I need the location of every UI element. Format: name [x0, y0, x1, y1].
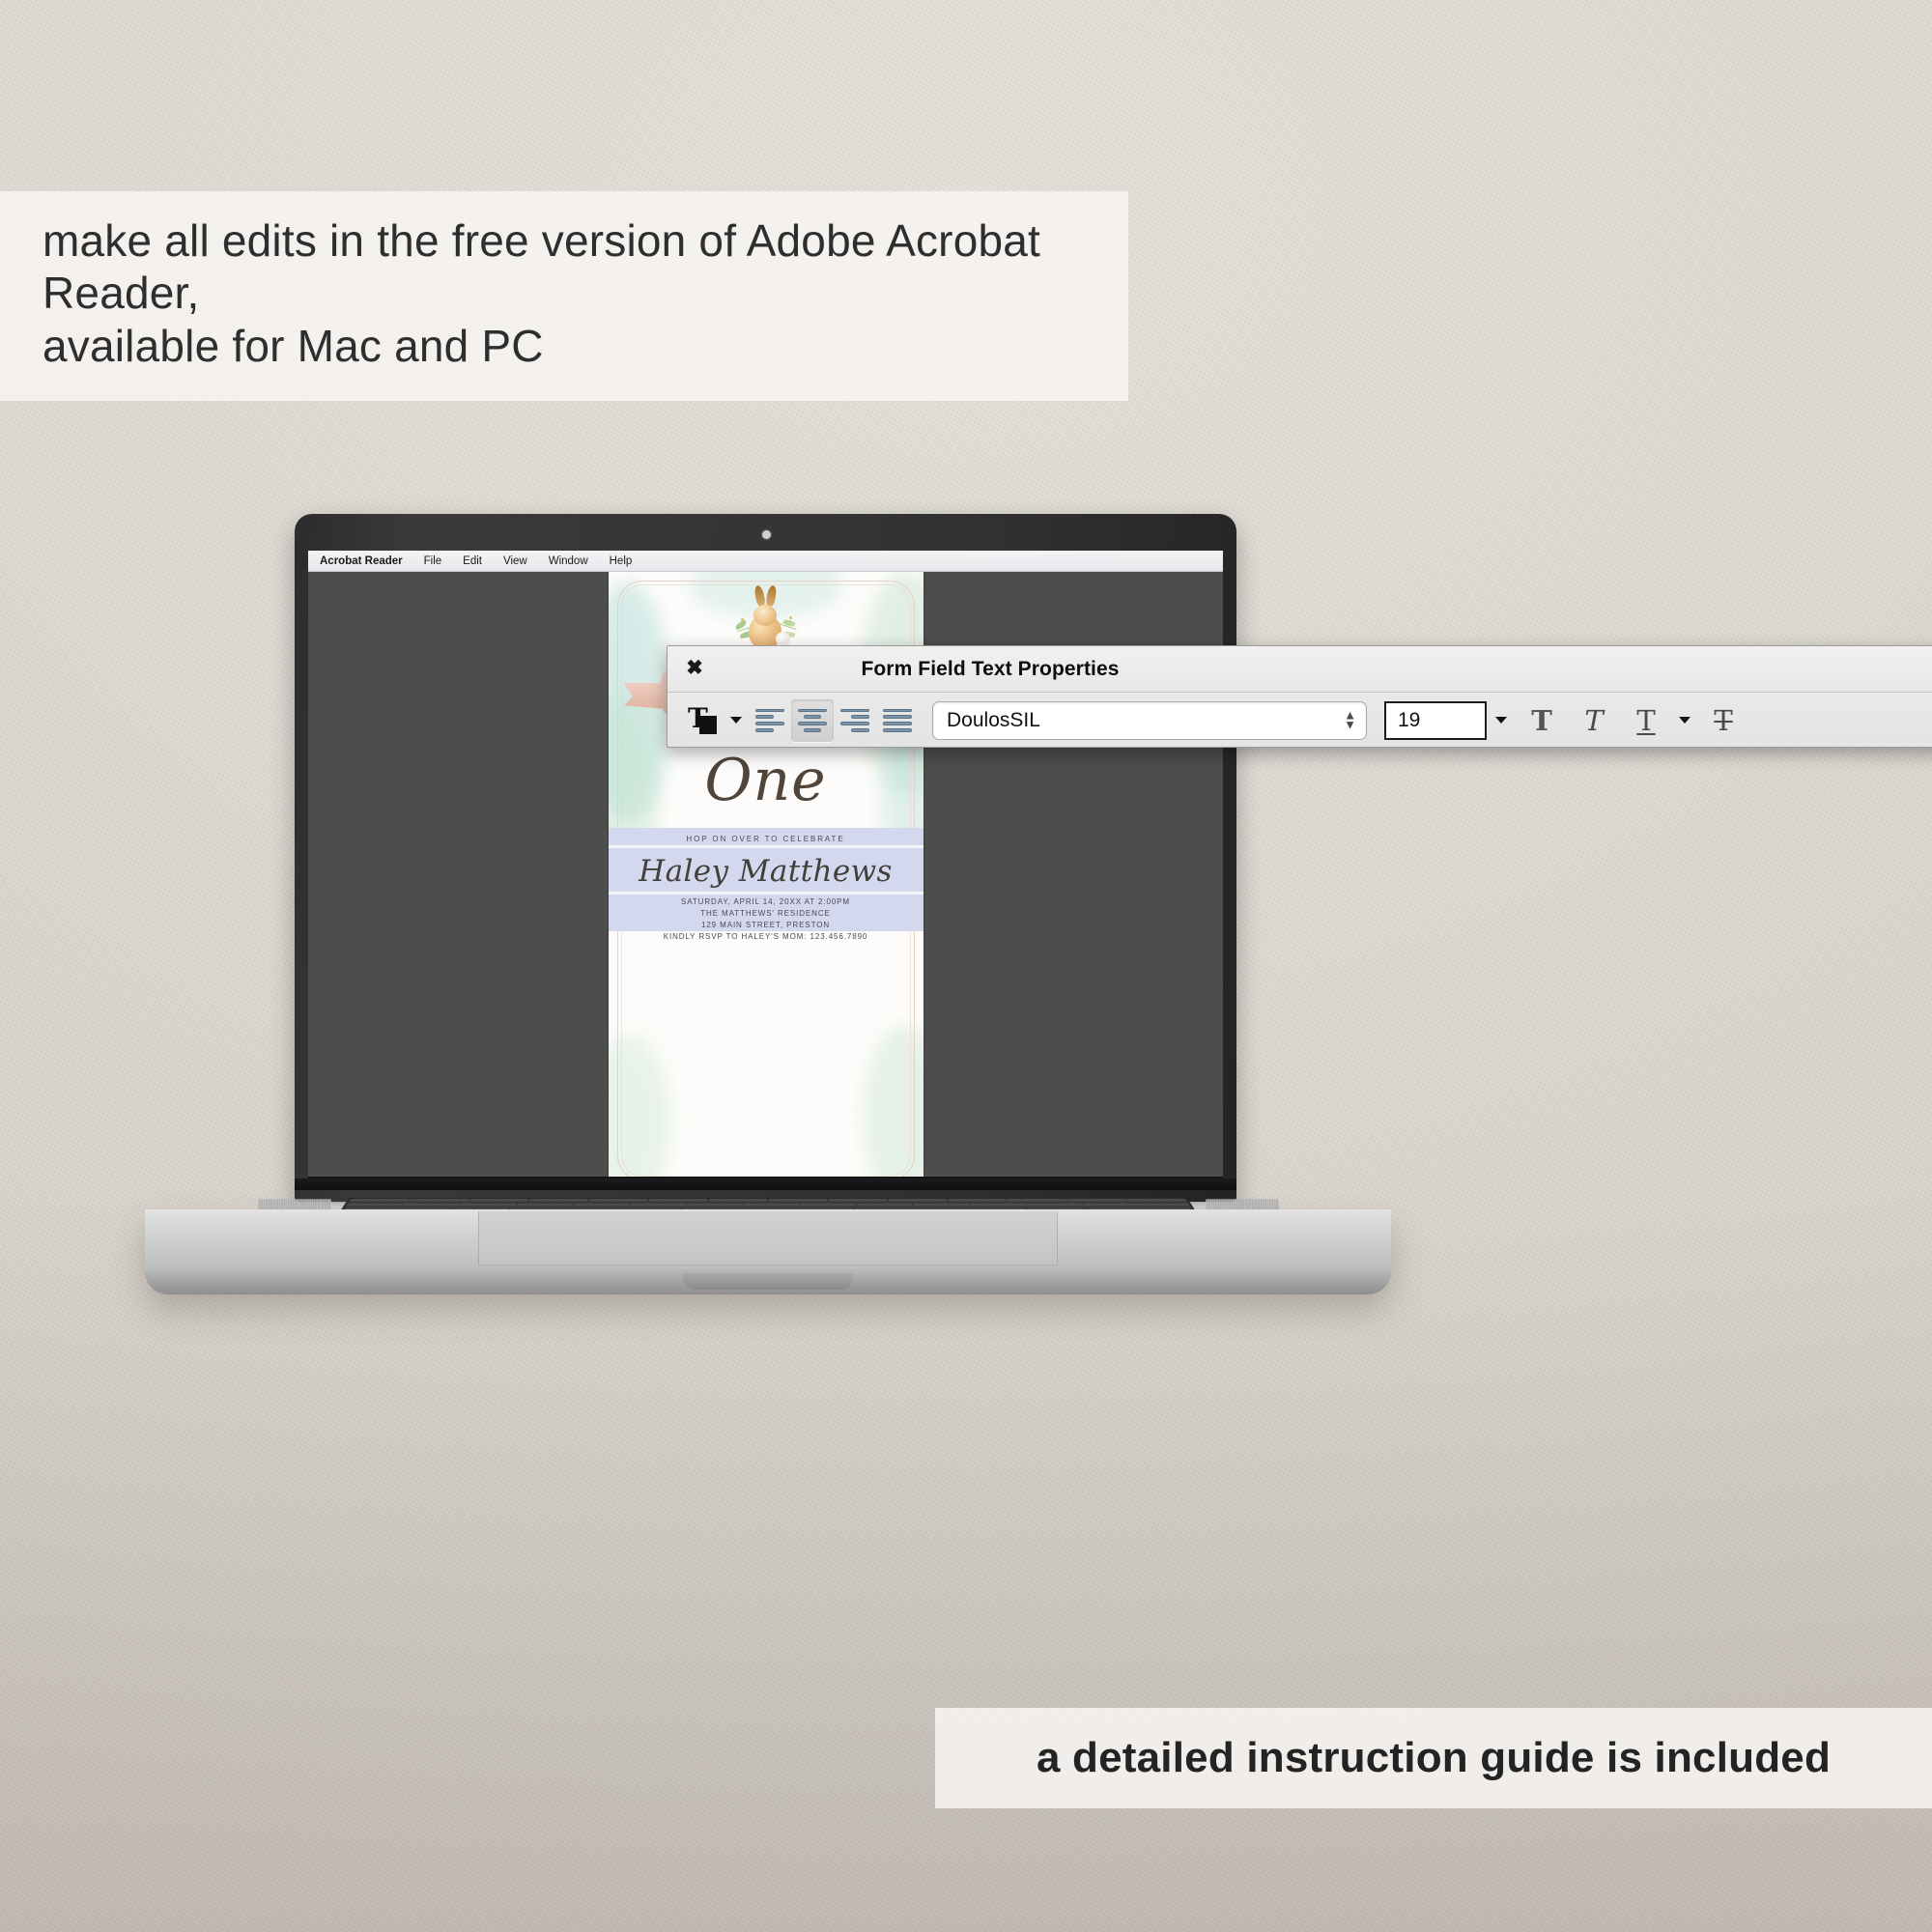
underline-button[interactable]: T: [1620, 699, 1672, 742]
caption-top-line1: make all edits in the free version of Ad…: [43, 215, 1040, 318]
font-family-value: DoulosSIL: [933, 709, 1040, 732]
text-tool-button[interactable]: T: [681, 699, 724, 742]
chevron-down-icon: [1495, 717, 1507, 724]
font-size-input[interactable]: 19: [1384, 701, 1487, 740]
menu-item-window[interactable]: Window: [538, 555, 599, 567]
honoree-name: Haley Matthews: [609, 854, 923, 889]
bold-button[interactable]: T: [1516, 699, 1568, 742]
form-field-text-properties-dialog[interactable]: ✖ Form Field Text Properties T DoulosSIL…: [667, 645, 1932, 748]
align-justify-button[interactable]: [876, 699, 919, 742]
align-center-icon: [798, 709, 827, 732]
italic-button[interactable]: T: [1568, 699, 1620, 742]
chevron-down-icon: [1679, 717, 1690, 724]
align-justify-icon: [883, 709, 912, 732]
dialog-toolbar[interactable]: T DoulosSIL ▲▼ 19 T T T: [668, 693, 1932, 748]
align-left-icon: [755, 709, 784, 732]
underline-dropdown-button[interactable]: [1672, 699, 1697, 742]
caption-bottom: a detailed instruction guide is included: [935, 1708, 1932, 1808]
caption-top: make all edits in the free version of Ad…: [0, 191, 1128, 401]
text-tool-icon: T: [688, 707, 717, 734]
detail-line-2: THE MATTHEWS' RESIDENCE: [609, 908, 923, 920]
dialog-title: Form Field Text Properties: [668, 658, 1932, 681]
menu-item-edit[interactable]: Edit: [452, 555, 493, 567]
font-family-select[interactable]: DoulosSIL ▲▼: [932, 701, 1367, 740]
laptop-lid: Acrobat Reader File Edit View Window Hel…: [295, 514, 1236, 1202]
age-text: One: [609, 752, 923, 810]
chevron-down-icon: [730, 717, 742, 724]
stepper-icon[interactable]: ▲▼: [1344, 711, 1356, 729]
align-center-button[interactable]: [791, 699, 834, 742]
menu-app-name[interactable]: Acrobat Reader: [320, 555, 413, 567]
base-notch: [683, 1273, 853, 1290]
bunny-illustration: [737, 593, 795, 653]
strikethrough-button[interactable]: T: [1697, 699, 1749, 742]
menu-item-view[interactable]: View: [493, 555, 538, 567]
menubar[interactable]: Acrobat Reader File Edit View Window Hel…: [308, 551, 1223, 572]
trackpad[interactable]: [478, 1211, 1058, 1265]
caption-top-line2: available for Mac and PC: [43, 320, 1128, 372]
detail-line-1: SATURDAY, APRIL 14, 20XX AT 2:00PM: [609, 896, 923, 908]
text-tool-dropdown-button[interactable]: [724, 699, 749, 742]
menu-item-help[interactable]: Help: [599, 555, 643, 567]
hop-on-over-text: HOP ON OVER TO CELEBRATE: [609, 835, 923, 843]
detail-line-4: KINDLY RSVP TO HALEY'S MOM: 123.456.7890: [609, 931, 923, 943]
detail-line-3: 129 MAIN STREET, PRESTON: [609, 920, 923, 931]
event-details: SATURDAY, APRIL 14, 20XX AT 2:00PM THE M…: [609, 896, 923, 944]
font-size-value: 19: [1386, 709, 1420, 732]
dialog-title-bar[interactable]: ✖ Form Field Text Properties: [668, 646, 1932, 693]
align-left-button[interactable]: [749, 699, 791, 742]
laptop-base: [145, 1209, 1391, 1318]
laptop-mockup: Acrobat Reader File Edit View Window Hel…: [145, 514, 1391, 1248]
font-size-dropdown-button[interactable]: [1487, 701, 1516, 740]
align-right-button[interactable]: [834, 699, 876, 742]
menu-item-file[interactable]: File: [413, 555, 453, 567]
align-right-icon: [840, 709, 869, 732]
webcam-icon: [762, 530, 771, 539]
